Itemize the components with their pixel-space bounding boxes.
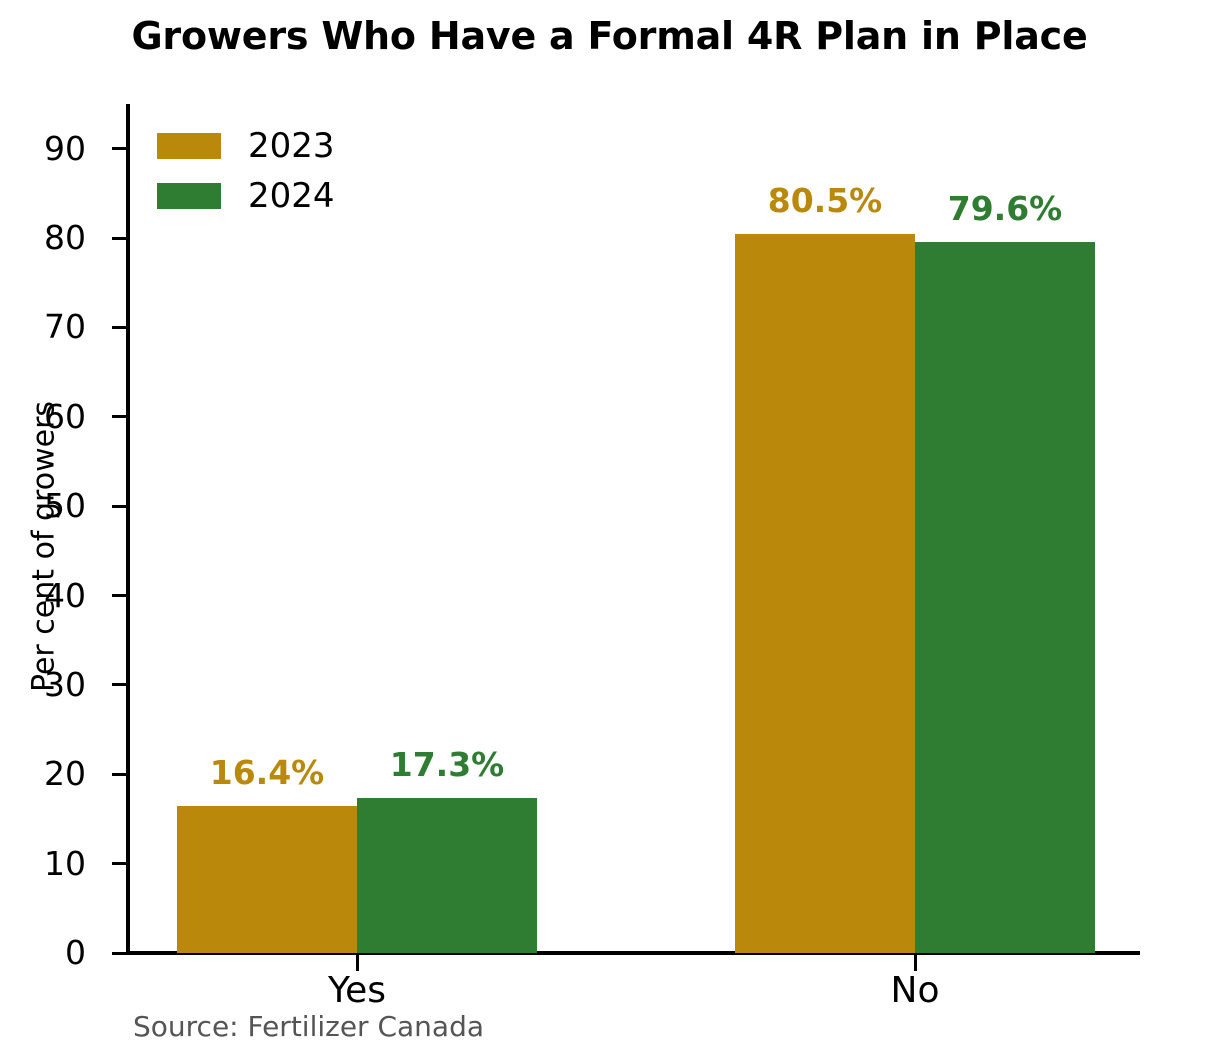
- source-note: Source: Fertilizer Canada: [133, 1010, 484, 1043]
- legend-label: 2023: [248, 129, 335, 163]
- legend-item-2023[interactable]: 2023: [157, 127, 377, 165]
- bar-value-label: 16.4%: [210, 753, 325, 792]
- x-axis-tick-label-no: No: [891, 970, 940, 1011]
- bar-yes-2024: [357, 798, 537, 953]
- legend-swatch-icon: [157, 183, 221, 209]
- x-axis-tick: [356, 955, 359, 971]
- bar-value-label: 79.6%: [948, 189, 1063, 228]
- bar-yes-2023: [177, 806, 357, 953]
- chart-legend: 20232024: [157, 127, 377, 227]
- legend-label: 2024: [248, 179, 335, 213]
- legend-swatch-icon: [157, 133, 221, 159]
- x-axis-tick: [914, 955, 917, 971]
- bar-no-2024: [915, 242, 1095, 953]
- bar-value-label: 17.3%: [390, 745, 505, 784]
- bar-value-label: 80.5%: [768, 181, 883, 220]
- bar-no-2023: [735, 234, 915, 953]
- x-axis-tick-label-yes: Yes: [328, 970, 386, 1011]
- legend-item-2024[interactable]: 2024: [157, 177, 377, 215]
